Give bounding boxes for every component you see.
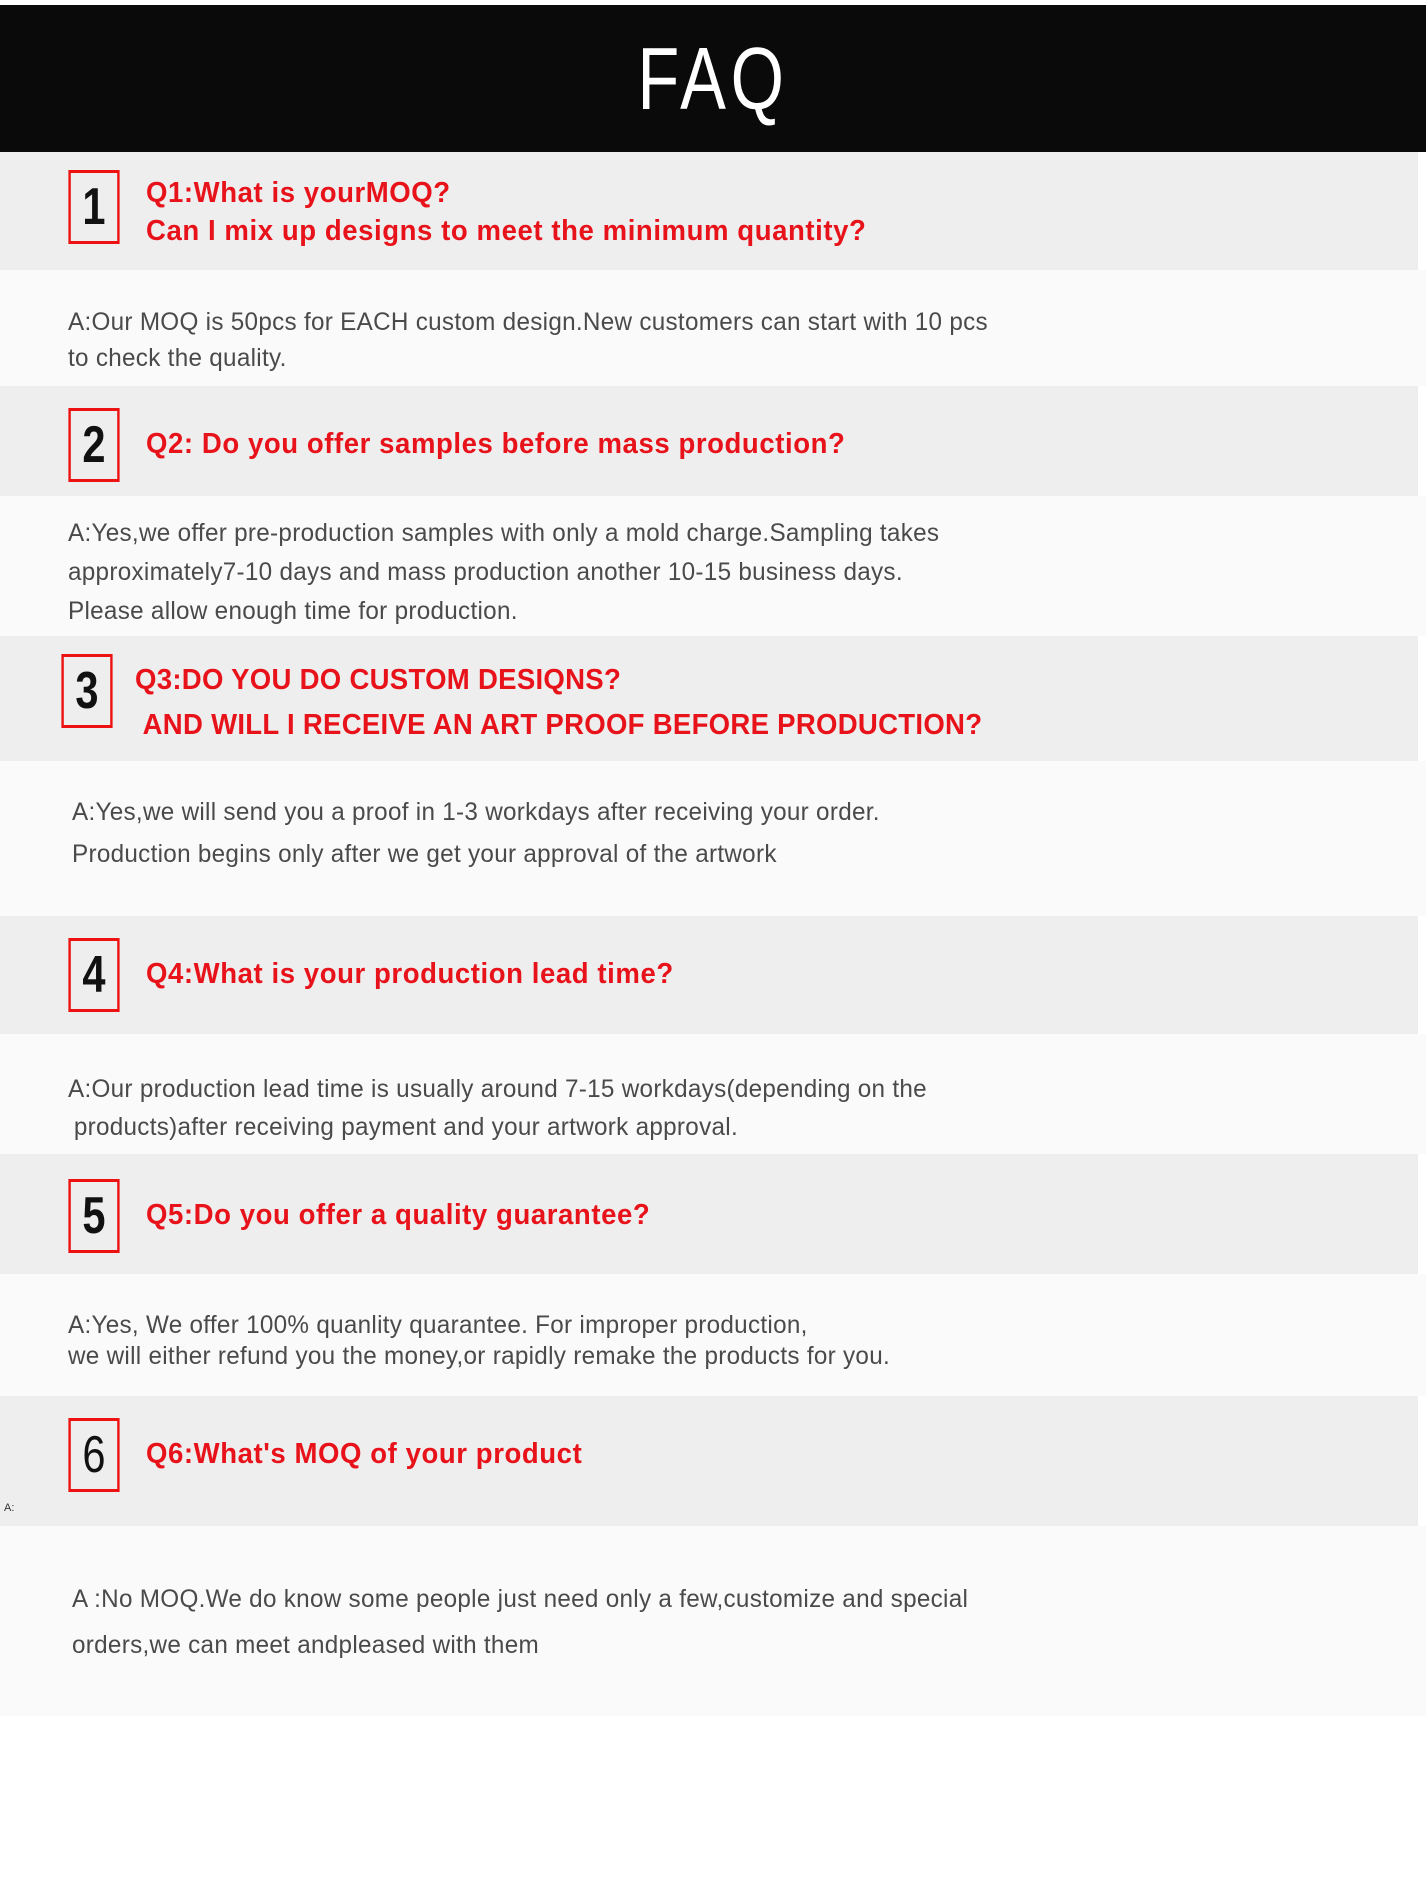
question-line: Q4:What is your production lead time? bbox=[146, 955, 674, 993]
answer-band-2: A:Yes,we offer pre-production samples wi… bbox=[0, 496, 1426, 636]
question-text-4: Q4:What is your production lead time? bbox=[146, 938, 702, 993]
question-band-1: 1 Q1:What is yourMOQ? Can I mix up desig… bbox=[0, 152, 1418, 270]
question-line: Q5:Do you offer a quality guarantee? bbox=[146, 1196, 650, 1234]
number-badge-6: 6 bbox=[62, 1418, 126, 1492]
question-line: Q6:What's MOQ of your product bbox=[146, 1435, 582, 1473]
number-box-3: 3 bbox=[61, 654, 112, 728]
number-badge-5: 5 bbox=[62, 1179, 126, 1253]
answer-line: to check the quality. bbox=[68, 340, 1385, 376]
question-band-5: 5 Q5:Do you offer a quality guarantee? bbox=[0, 1154, 1418, 1274]
number-box-6: 6 bbox=[68, 1418, 119, 1492]
answer-line: A :No MOQ.We do know some people just ne… bbox=[72, 1576, 1385, 1622]
question-line: AND WILL I RECEIVE AN ART PROOF BEFORE P… bbox=[135, 703, 982, 748]
number-badge-3: 3 bbox=[55, 654, 119, 728]
number-badge-4: 4 bbox=[62, 938, 126, 1012]
question-band-3: 3 Q3:DO YOU DO CUSTOM DESIQNS? AND WILL … bbox=[0, 636, 1418, 761]
number-box-4: 4 bbox=[68, 938, 119, 1012]
question-line: Q3:DO YOU DO CUSTOM DESIQNS? bbox=[135, 658, 982, 703]
question-band-4: 4 Q4:What is your production lead time? bbox=[0, 916, 1418, 1034]
answer-line: Please allow enough time for production. bbox=[68, 592, 1385, 631]
question-text-6: Q6:What's MOQ of your product bbox=[146, 1418, 605, 1473]
number-box-2: 2 bbox=[68, 408, 119, 482]
answer-band-4: A:Our production lead time is usually ar… bbox=[0, 1034, 1426, 1154]
answer-line: A:Yes, We offer 100% quanlity quarantee.… bbox=[68, 1310, 1385, 1341]
question-text-3: Q3:DO YOU DO CUSTOM DESIQNS? AND WILL I … bbox=[135, 654, 1027, 748]
question-line: Q1:What is yourMOQ? bbox=[146, 174, 866, 212]
answer-line: products)after receiving payment and you… bbox=[68, 1108, 1385, 1146]
stray-answer-marker: A: bbox=[4, 1502, 14, 1514]
question-text-2: Q2: Do you offer samples before mass pro… bbox=[146, 408, 882, 463]
page-title: FAQ bbox=[637, 35, 788, 123]
question-text-5: Q5:Do you offer a quality guarantee? bbox=[146, 1179, 677, 1234]
question-text-1: Q1:What is yourMOQ? Can I mix up designs… bbox=[146, 170, 904, 250]
answer-band-1: A:Our MOQ is 50pcs for EACH custom desig… bbox=[0, 270, 1426, 386]
number-badge-1: 1 bbox=[62, 170, 126, 244]
answer-line: orders,we can meet andpleased with them bbox=[72, 1622, 1385, 1668]
answer-band-5: A:Yes, We offer 100% quanlity quarantee.… bbox=[0, 1274, 1426, 1396]
answer-line: A:Yes,we offer pre-production samples wi… bbox=[68, 514, 1385, 553]
answer-line: Production begins only after we get your… bbox=[72, 833, 1385, 875]
number-badge-2: 2 bbox=[62, 408, 126, 482]
question-line: Q2: Do you offer samples before mass pro… bbox=[146, 425, 845, 463]
number-box-5: 5 bbox=[68, 1179, 119, 1253]
answer-band-3: A:Yes,we will send you a proof in 1-3 wo… bbox=[0, 761, 1426, 916]
number-box-1: 1 bbox=[68, 170, 119, 244]
question-band-2: 2 Q2: Do you offer samples before mass p… bbox=[0, 386, 1418, 496]
answer-band-6: A :No MOQ.We do know some people just ne… bbox=[0, 1526, 1426, 1716]
answer-line: approximately7-10 days and mass producti… bbox=[68, 553, 1385, 592]
question-line: Can I mix up designs to meet the minimum… bbox=[146, 212, 866, 250]
answer-line: we will either refund you the money,or r… bbox=[68, 1341, 1385, 1372]
answer-line: A:Our production lead time is usually ar… bbox=[68, 1070, 1385, 1108]
question-band-6: 6 Q6:What's MOQ of your product A: bbox=[0, 1396, 1418, 1526]
faq-page: FAQ 1 Q1:What is yourMOQ? Can I mix up d… bbox=[0, 5, 1426, 1883]
answer-line: A:Yes,we will send you a proof in 1-3 wo… bbox=[72, 791, 1385, 833]
faq-banner: FAQ bbox=[0, 5, 1426, 152]
answer-line: A:Our MOQ is 50pcs for EACH custom desig… bbox=[68, 304, 1385, 340]
